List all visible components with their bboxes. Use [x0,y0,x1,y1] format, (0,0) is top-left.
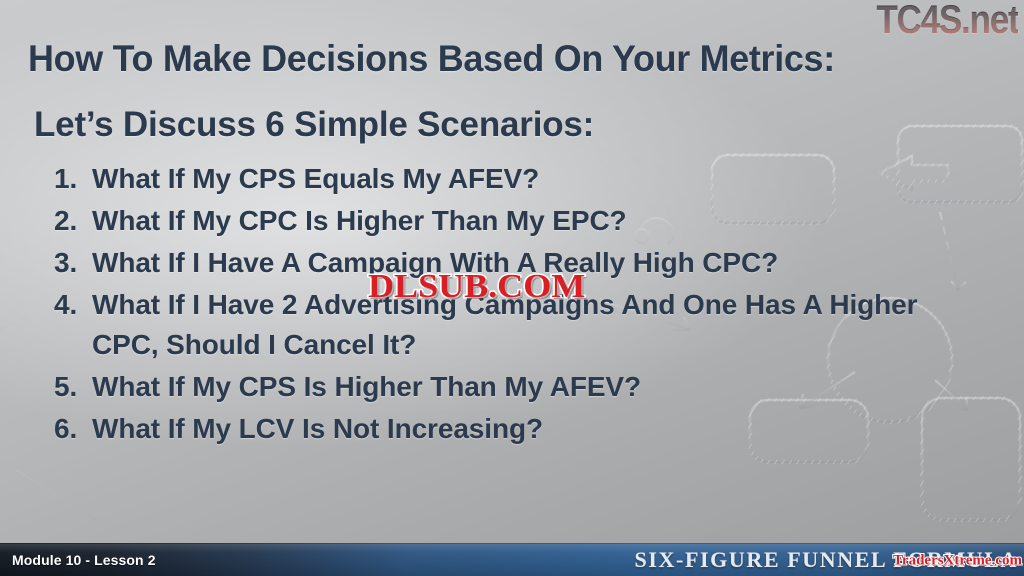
list-item-text: What If My LCV Is Not Increasing? [92,409,984,449]
module-lesson-label: Module 10 - Lesson 2 [12,552,156,568]
slide-subtitle: Let’s Discuss 6 Simple Scenarios: [34,105,594,145]
list-item: 2. What If My CPC Is Higher Than My EPC? [54,201,984,241]
list-item-number: 3. [54,243,92,283]
list-item-number: 2. [54,201,92,241]
dlsub-watermark: DLSUB.COM [368,268,585,306]
presentation-slide: TC4S.net How To Make Decisions Based On … [0,0,1024,576]
tc4s-watermark: TC4S.net [876,0,1018,43]
list-item: 5. What If My CPS Is Higher Than My AFEV… [54,367,984,407]
tradersxtreme-watermark: TradersXtreme.com [893,552,1022,569]
list-item-text: What If My CPC Is Higher Than My EPC? [92,201,984,241]
list-item-number: 6. [54,409,92,449]
slide-title: How To Make Decisions Based On Your Metr… [28,38,835,80]
list-item-number: 1. [54,159,92,199]
list-item-text: What If My CPS Equals My AFEV? [92,159,984,199]
list-item-text: What If My CPS Is Higher Than My AFEV? [92,367,984,407]
list-item-number: 5. [54,367,92,407]
list-item: 6. What If My LCV Is Not Increasing? [54,409,984,449]
list-item: 1. What If My CPS Equals My AFEV? [54,159,984,199]
footer-bar: Module 10 - Lesson 2 SIX-FIGURE FUNNEL F… [0,543,1024,576]
list-item-number: 4. [54,285,92,325]
